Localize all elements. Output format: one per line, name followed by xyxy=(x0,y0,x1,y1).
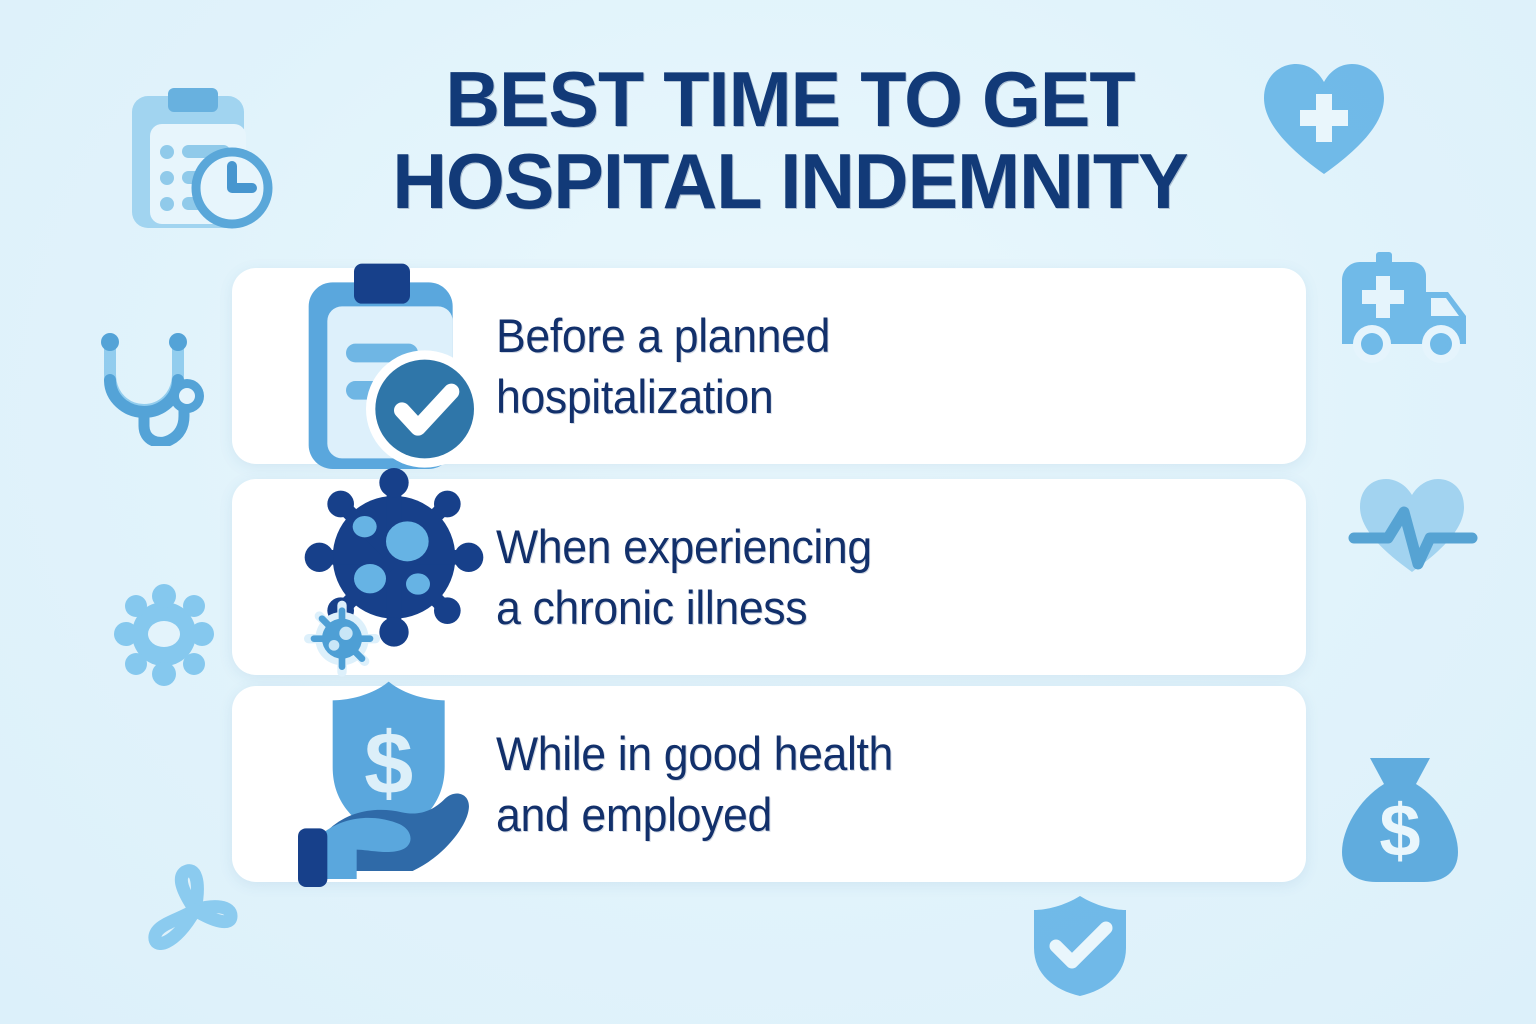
list-item-text: Before a planned hospitalization xyxy=(496,305,830,427)
list-item-line-2: and employed xyxy=(496,784,893,845)
ambulance-icon xyxy=(1328,248,1474,364)
list-item-line-2: a chronic illness xyxy=(496,577,872,638)
clipboard-check-icon xyxy=(290,286,490,446)
list-item-line-1: When experiencing xyxy=(496,516,872,577)
shield-check-icon xyxy=(1024,892,1136,1000)
list-item-chronic-illness[interactable]: When experiencing a chronic illness xyxy=(232,479,1306,675)
list-item-line-1: While in good health xyxy=(496,723,893,784)
list-item-good-health-employed[interactable]: $ While in good health and employed xyxy=(232,686,1306,882)
hand-shield-dollar-icon: $ xyxy=(290,704,490,864)
list-item-planned-hospitalization[interactable]: Before a planned hospitalization xyxy=(232,268,1306,464)
molecule-icon xyxy=(143,862,247,958)
infographic-poster: $ BEST TIME TO GET HOSPITAL INDEMNITY xyxy=(0,0,1536,1024)
list-item-line-1: Before a planned xyxy=(496,305,830,366)
stethoscope-icon xyxy=(88,328,212,446)
title-line-1: BEST TIME TO GET xyxy=(373,62,1207,138)
svg-text:$: $ xyxy=(1379,789,1420,872)
clipboard-clock-icon xyxy=(110,80,280,240)
svg-text:$: $ xyxy=(364,713,413,812)
list-item-text: While in good health and employed xyxy=(496,723,893,845)
list-item-line-2: hospitalization xyxy=(496,366,830,427)
heart-pulse-icon xyxy=(1344,474,1480,578)
germ-icon xyxy=(108,582,220,686)
heart-cross-icon xyxy=(1258,58,1390,180)
page-title: BEST TIME TO GET HOSPITAL INDEMNITY xyxy=(360,62,1220,219)
virus-icon xyxy=(290,497,490,657)
money-bag-icon: $ xyxy=(1334,752,1466,886)
list-item-text: When experiencing a chronic illness xyxy=(496,516,872,638)
title-line-2: HOSPITAL INDEMNITY xyxy=(373,144,1207,220)
